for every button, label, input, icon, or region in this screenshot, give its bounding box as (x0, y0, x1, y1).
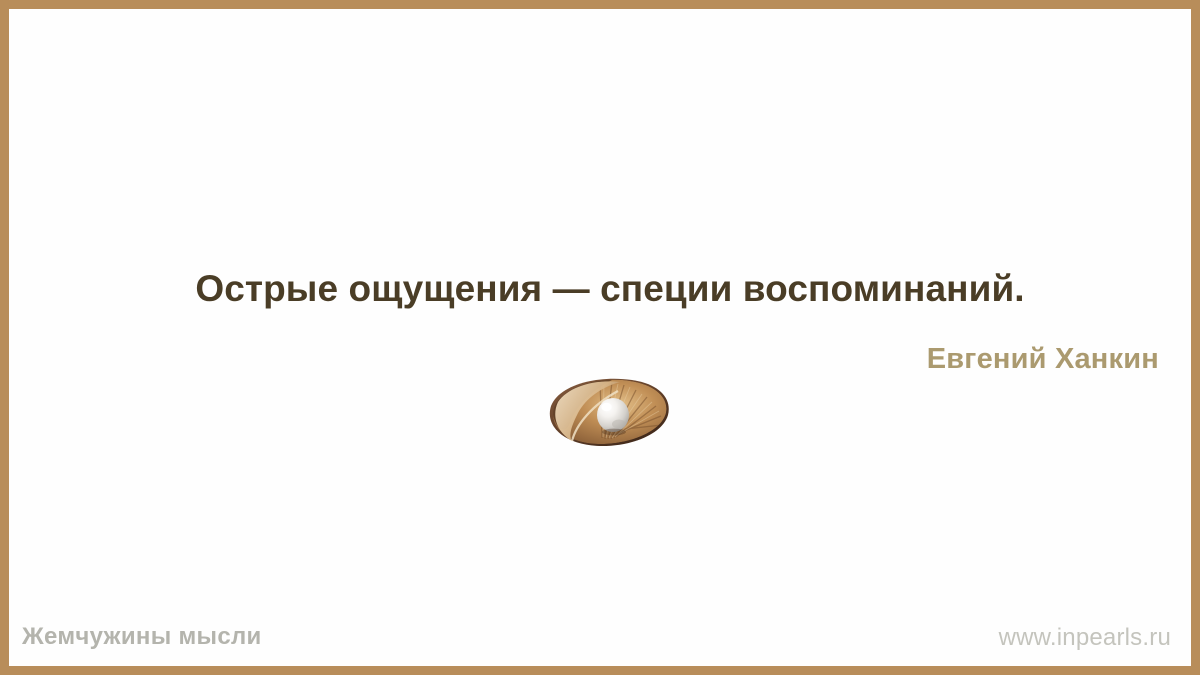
site-title: Жемчужины мысли (22, 623, 262, 651)
quote-card: Острые ощущения — специи воспоминаний. Е… (0, 0, 1200, 675)
footer: Жемчужины мысли www.inpearls.ru (9, 623, 1191, 653)
quote-area: Острые ощущения — специи воспоминаний. Е… (9, 9, 1191, 649)
oyster-shell-pearl-icon (542, 375, 672, 447)
site-url[interactable]: www.inpearls.ru (999, 624, 1171, 652)
quote-text: Острые ощущения — специи воспоминаний. (117, 267, 1103, 311)
author-name: Евгений Ханкин (927, 342, 1159, 377)
